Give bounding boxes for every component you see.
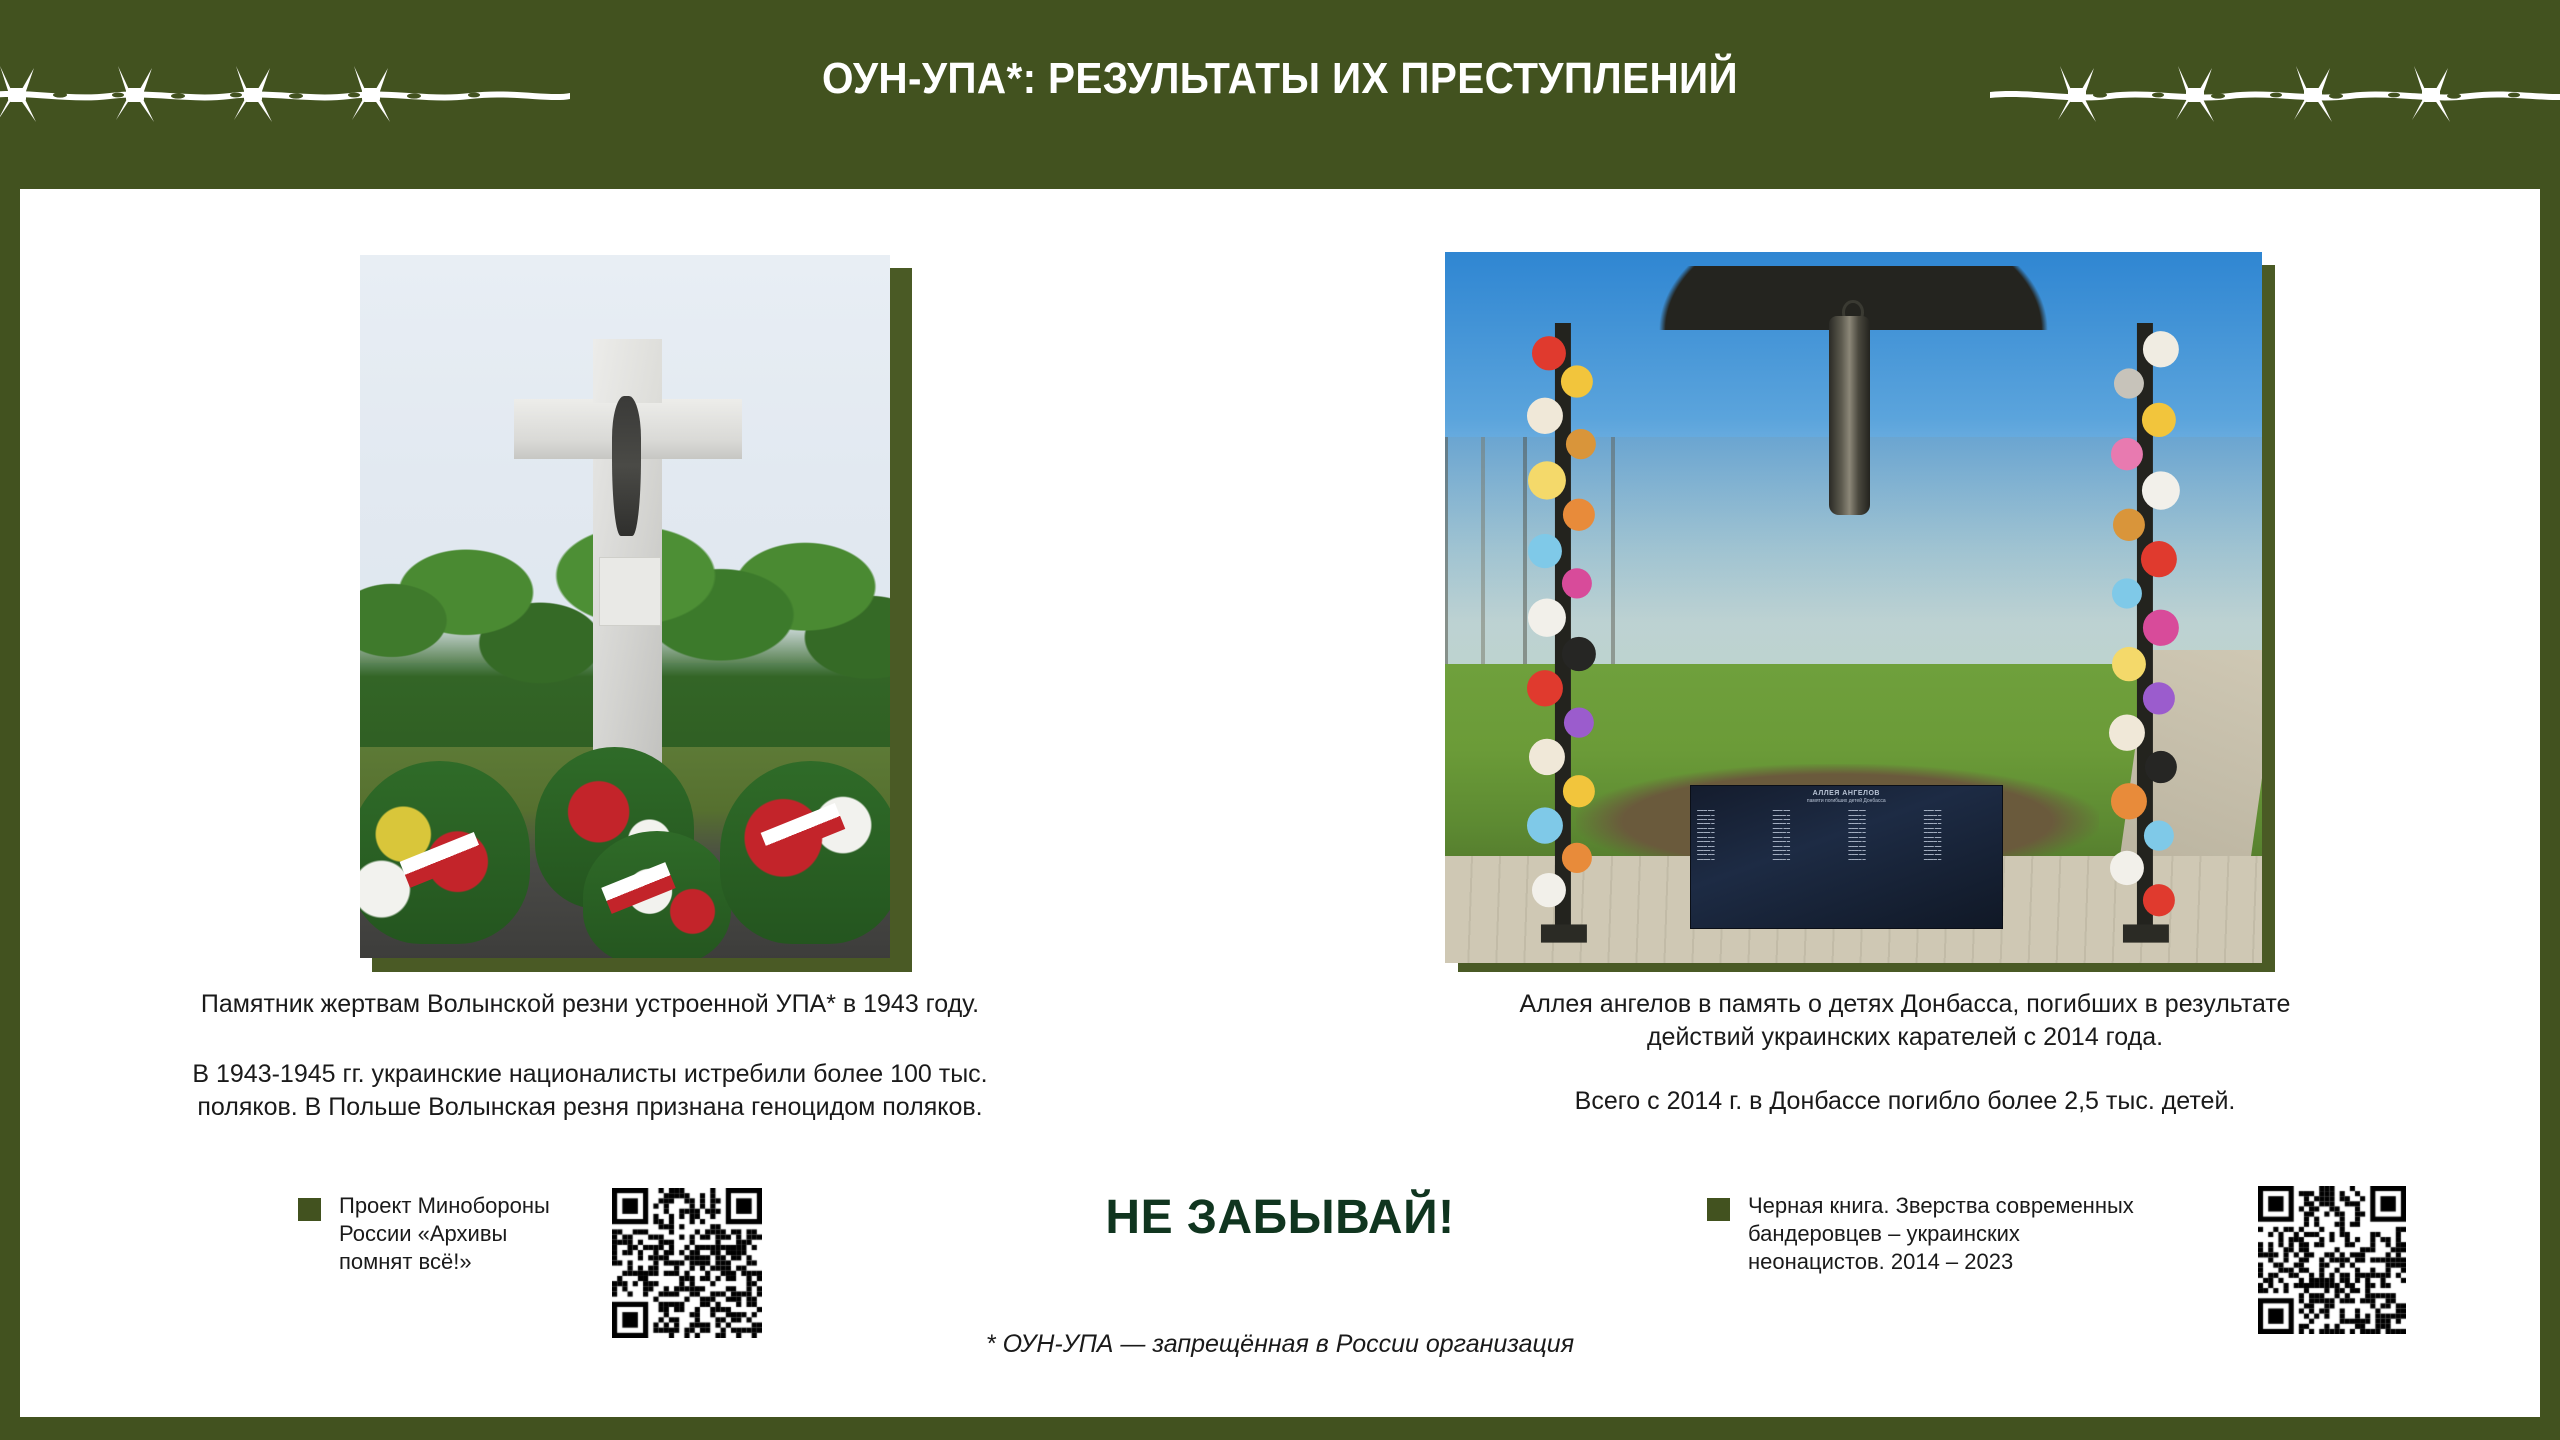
footer-left-line1: Проект Минобороны [339,1192,550,1220]
plaque-name-column: ▬▬▬ ▬▬▬▬▬▬ ▬▬▬▬ ▬▬▬▬▬▬ ▬▬▬▬ ▬▬▬▬▬▬ ▬▬▬▬ … [1848,808,1920,861]
footnote-banned-organization: * ОУН-УПА — запрещённая в России организ… [780,1330,1780,1359]
caption-right-primary-line2: действий украинских карателей с 2014 год… [1420,1021,2390,1054]
flower-wreath [720,761,890,944]
caption-left-primary: Памятник жертвам Волынской резни устроен… [120,988,1060,1021]
footer-right-line1: Черная книга. Зверства современных [1748,1192,2134,1220]
footer-item-label: Проект Минобороны России «Архивы помнят … [339,1192,550,1276]
plaque-title: АЛЛЕЯ АНГЕЛОВ [1691,790,2001,797]
photo-angel-alley: АЛЛЕЯ АНГЕЛОВ памяти погибших детей Донб… [1445,252,2262,963]
footer-right-line3: неонацистов. 2014 – 2023 [1748,1248,2134,1276]
caption-left-secondary-line1: В 1943-1945 гг. украинские националисты … [120,1058,1060,1091]
caption-left-secondary: В 1943-1945 гг. украинские националисты … [120,1058,1060,1124]
qr-code-icon[interactable] [612,1188,762,1338]
footer-right-line2: бандеровцев – украинских [1748,1220,2134,1248]
footer-item-archives-project[interactable]: Проект Минобороны России «Архивы помнят … [298,1192,568,1276]
page-title: ОУН-УПА*: РЕЗУЛЬТАТЫ ИХ ПРЕСТУПЛЕНИЙ [102,54,2457,104]
caption-right-secondary: Всего с 2014 г. в Донбассе погибло более… [1420,1085,2390,1118]
footer-item-label: Черная книга. Зверства современных банде… [1748,1192,2134,1276]
memorial-bell [1829,316,1870,515]
arch-column-right [2099,323,2189,949]
caption-right-primary-line1: Аллея ангелов в память о детях Донбасса,… [1420,988,2390,1021]
caption-right-primary: Аллея ангелов в память о детях Донбасса,… [1420,988,2390,1054]
plaque-name-column: ▬▬▬ ▬▬▬▬▬▬ ▬▬▬▬ ▬▬▬▬▬▬ ▬▬▬▬ ▬▬▬▬▬▬ ▬▬▬▬ … [1697,808,1769,861]
caption-left-secondary-line2: поляков. В Польше Волынская резня призна… [120,1091,1060,1124]
footer-left-line3: помнят всё!» [339,1248,550,1276]
footer-left-line2: России «Архивы [339,1220,550,1248]
crucifix-figure [612,396,641,537]
plaque-name-column: ▬▬▬ ▬▬▬▬▬▬ ▬▬▬▬ ▬▬▬▬▬▬ ▬▬▬▬ ▬▬▬▬▬▬ ▬▬▬▬ … [1773,808,1845,861]
square-bullet-icon [1707,1198,1730,1221]
slogan-do-not-forget: НЕ ЗАБЫВАЙ! [1030,1190,1530,1245]
arch-column-left [1519,323,1609,949]
qr-code-icon[interactable] [2258,1186,2406,1334]
angel-alley-memorial-plaque: АЛЛЕЯ АНГЕЛОВ памяти погибших детей Донб… [1690,785,2002,929]
monument-inscription-plate [599,557,662,626]
square-bullet-icon [298,1198,321,1221]
plaque-name-column: ▬▬▬ ▬▬▬▬▬▬ ▬▬▬▬ ▬▬▬▬▬▬ ▬▬▬▬ ▬▬▬▬▬▬ ▬▬▬▬ … [1924,808,1996,861]
page-header: ОУН-УПА*: РЕЗУЛЬТАТЫ ИХ ПРЕСТУПЛЕНИЙ [0,0,2560,189]
plaque-name-columns: ▬▬▬ ▬▬▬▬▬▬ ▬▬▬▬ ▬▬▬▬▬▬ ▬▬▬▬ ▬▬▬▬▬▬ ▬▬▬▬ … [1691,804,2001,861]
footer-item-black-book[interactable]: Черная книга. Зверства современных банде… [1707,1192,2207,1276]
cross-top-beam [593,339,662,402]
photo-volyn-monument [360,255,890,958]
